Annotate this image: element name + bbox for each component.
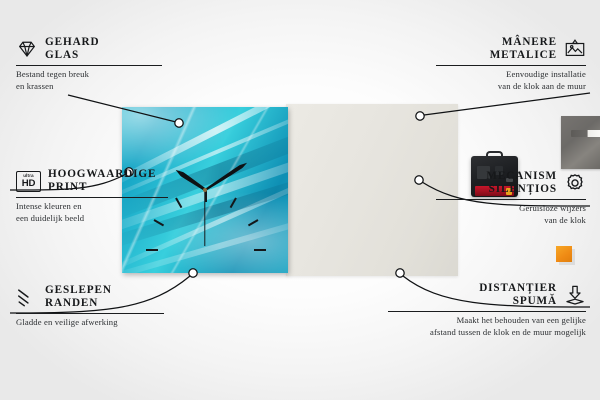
feature-mecanism-silentios: MECANISM SILENȚIOS Geruisloze wijzers va… [436,170,586,226]
product-image-group [122,104,458,276]
feature-divider [436,65,586,66]
clock-minute-hand [204,161,248,192]
feature-subtitle-line1: Gladde en veilige afwerking [16,317,164,328]
bevelled-edges-icon [16,286,38,308]
feature-subtitle: Intense kleuren en een duidelijk beeld [16,201,168,224]
ultra-hd-icon-main: HD [22,179,35,189]
feature-title-2: PRINT [48,181,156,194]
feature-title: DISTANȚIER [479,282,557,295]
picture-frame-icon [564,38,586,60]
feature-subtitle-line2: afstand tussen de klok en de muur mogeli… [388,327,586,338]
ultra-hd-icon: ultra HD [16,171,41,192]
feature-title: MÂNERE [490,36,557,49]
feature-title: GESLEPEN [45,284,112,297]
feature-subtitle-line1: Maakt het behouden van een gelijke [388,315,586,326]
feature-subtitle-line2: een duidelijk beeld [16,213,168,224]
feature-subtitle-line2: en krassen [16,81,162,92]
feature-subtitle: Maakt het behouden van een gelijke afsta… [388,315,586,338]
feature-title: GEHARD [45,36,100,49]
feature-title-2: METALICE [490,49,557,62]
feature-hoogwaardige-print: ultra HD HOOGWAARDIGE PRINT Intense kleu… [16,168,168,224]
feature-subtitle-line2: van de klok aan de muur [436,81,586,92]
gear-icon [564,172,586,194]
feature-subtitle-line1: Eenvoudige installatie [436,69,586,80]
feature-divider [16,313,164,314]
clock-hour-hand [174,168,207,192]
feature-gehard-glas: GEHARD GLAS Bestand tegen breuk en krass… [16,36,162,92]
feature-divider [16,197,168,198]
feature-title-2: SPUMĂ [479,295,557,308]
clock-back-panel [286,104,458,276]
feature-geslepen-randen: GESLEPEN RANDEN Gladde en veilige afwerk… [16,284,164,329]
feature-title: MECANISM [486,170,557,183]
feature-subtitle-line1: Intense kleuren en [16,201,168,212]
diamond-icon [16,38,38,60]
feature-distantier-spuma: DISTANȚIER SPUMĂ Maakt het behouden van … [388,282,586,338]
feature-divider [436,199,586,200]
feature-title-2: GLAS [45,49,100,62]
feature-manere-metalice: MÂNERE METALICE Eenvoudige installatie v… [436,36,586,92]
feature-subtitle-line2: van de klok [436,215,586,226]
feature-subtitle: Bestand tegen breuk en krassen [16,69,162,92]
feature-divider [388,311,586,312]
clock-center-cap [203,188,207,192]
down-arrow-layer-icon [564,284,586,306]
feature-subtitle-line1: Geruisloze wijzers [436,203,586,214]
feature-title-2: SILENȚIOS [486,183,557,196]
hanger-keyhole-slot [571,130,600,137]
feature-subtitle: Eenvoudige installatie van de klok aan d… [436,69,586,92]
feature-subtitle: Gladde en veilige afwerking [16,317,164,328]
feature-subtitle: Geruisloze wijzers van de klok [436,203,586,226]
feature-divider [16,65,162,66]
feature-title-2: RANDEN [45,297,112,310]
feature-title: HOOGWAARDIGE [48,168,156,181]
foam-spacer [556,246,572,262]
feature-subtitle-line1: Bestand tegen breuk [16,69,162,80]
metal-hanger-plate [561,116,600,169]
infographic-canvas: GEHARD GLAS Bestand tegen breuk en krass… [0,0,600,400]
